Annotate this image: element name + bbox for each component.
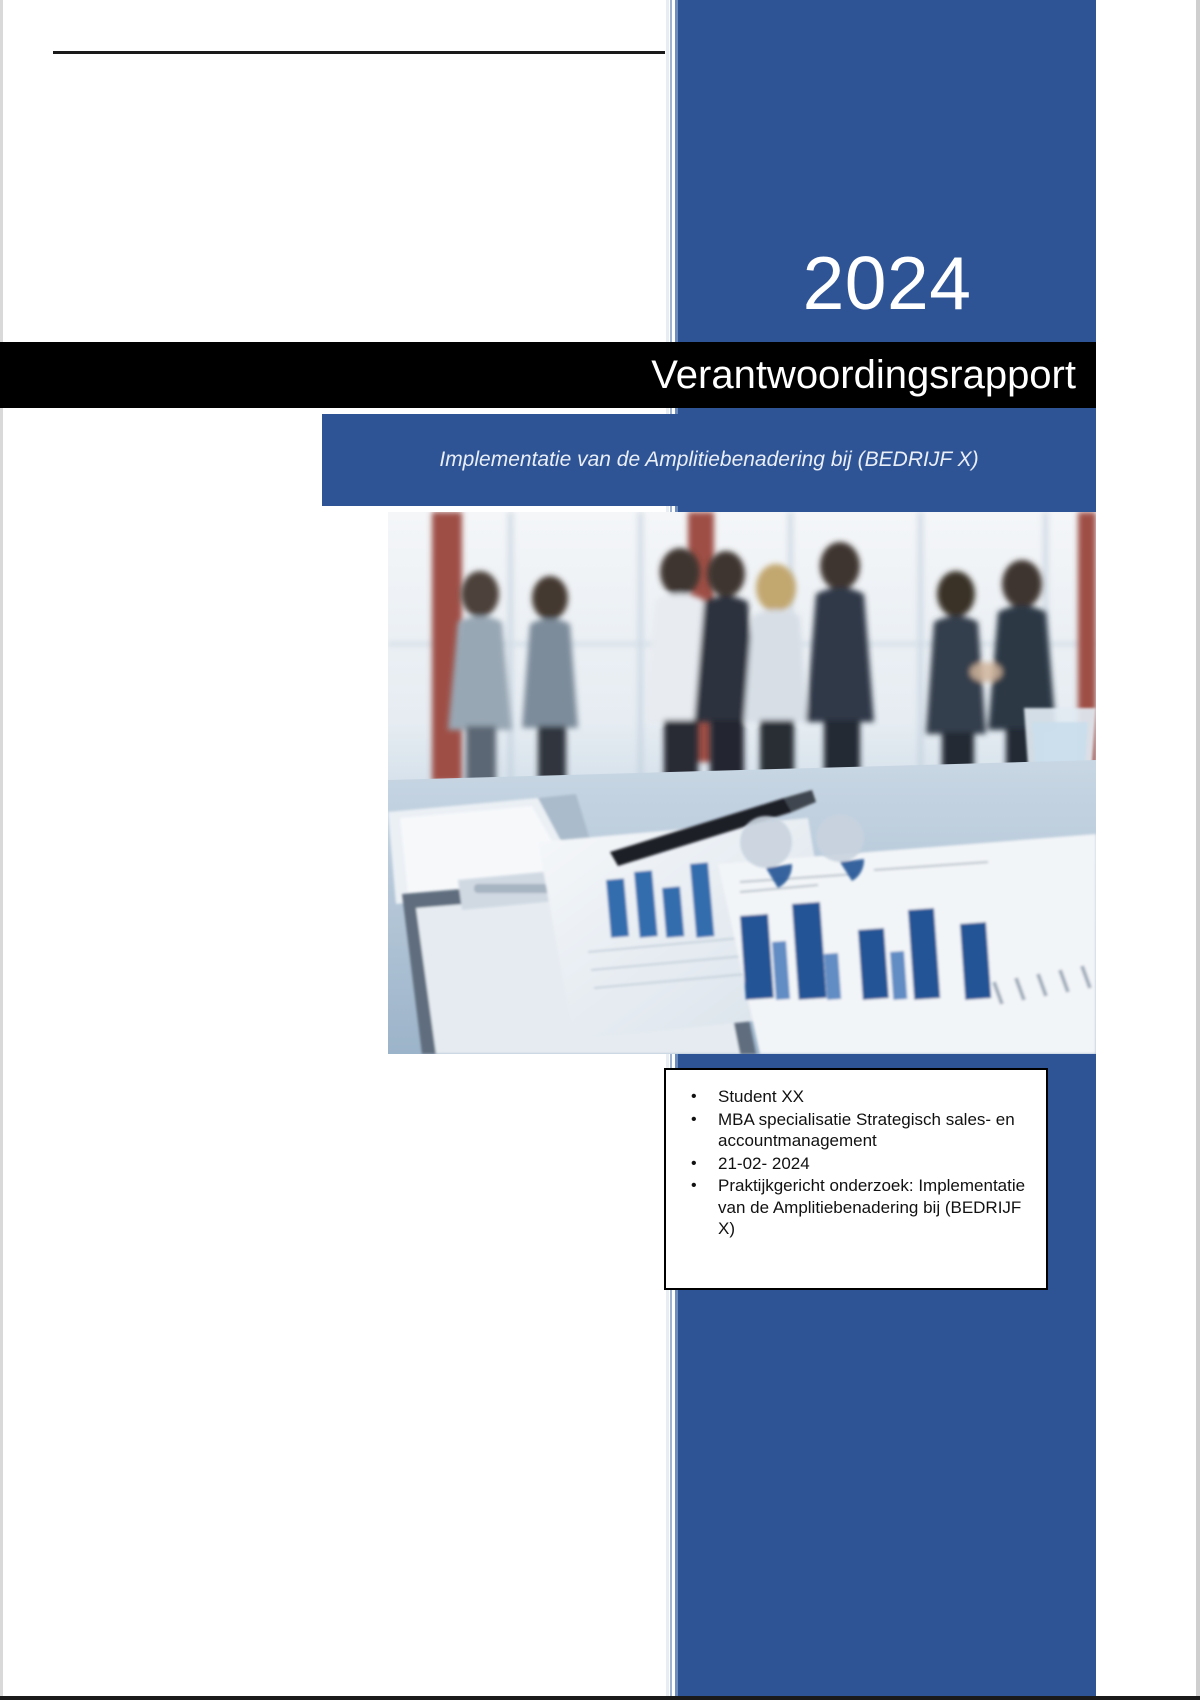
- list-item: 21-02- 2024: [718, 1153, 1032, 1175]
- cover-year: 2024: [678, 246, 1096, 321]
- cover-page: 2024 Verantwoordingsrapport Implementati…: [0, 0, 1200, 1700]
- cover-photo: [388, 512, 1096, 1054]
- author-info-list: Student XX MBA specialisatie Strategisch…: [666, 1070, 1046, 1251]
- page-edge-left: [0, 0, 3, 1700]
- list-item: MBA specialisatie Strategisch sales- en …: [718, 1109, 1032, 1152]
- author-info-box: Student XX MBA specialisatie Strategisch…: [664, 1068, 1048, 1290]
- business-meeting-illustration: [388, 512, 1096, 1054]
- list-item: Praktijkgericht onderzoek: Implementatie…: [718, 1175, 1032, 1240]
- page-title: Verantwoordingsrapport: [651, 355, 1076, 395]
- page-subtitle: Implementatie van de Amplitiebenadering …: [322, 448, 1096, 472]
- page-edge-bottom: [0, 1696, 1200, 1700]
- top-horizontal-rule: [53, 51, 665, 54]
- subtitle-band: Implementatie van de Amplitiebenadering …: [322, 414, 1096, 506]
- list-item: Student XX: [718, 1086, 1032, 1108]
- page-edge-right: [1196, 0, 1200, 1700]
- title-band: Verantwoordingsrapport: [0, 342, 1096, 408]
